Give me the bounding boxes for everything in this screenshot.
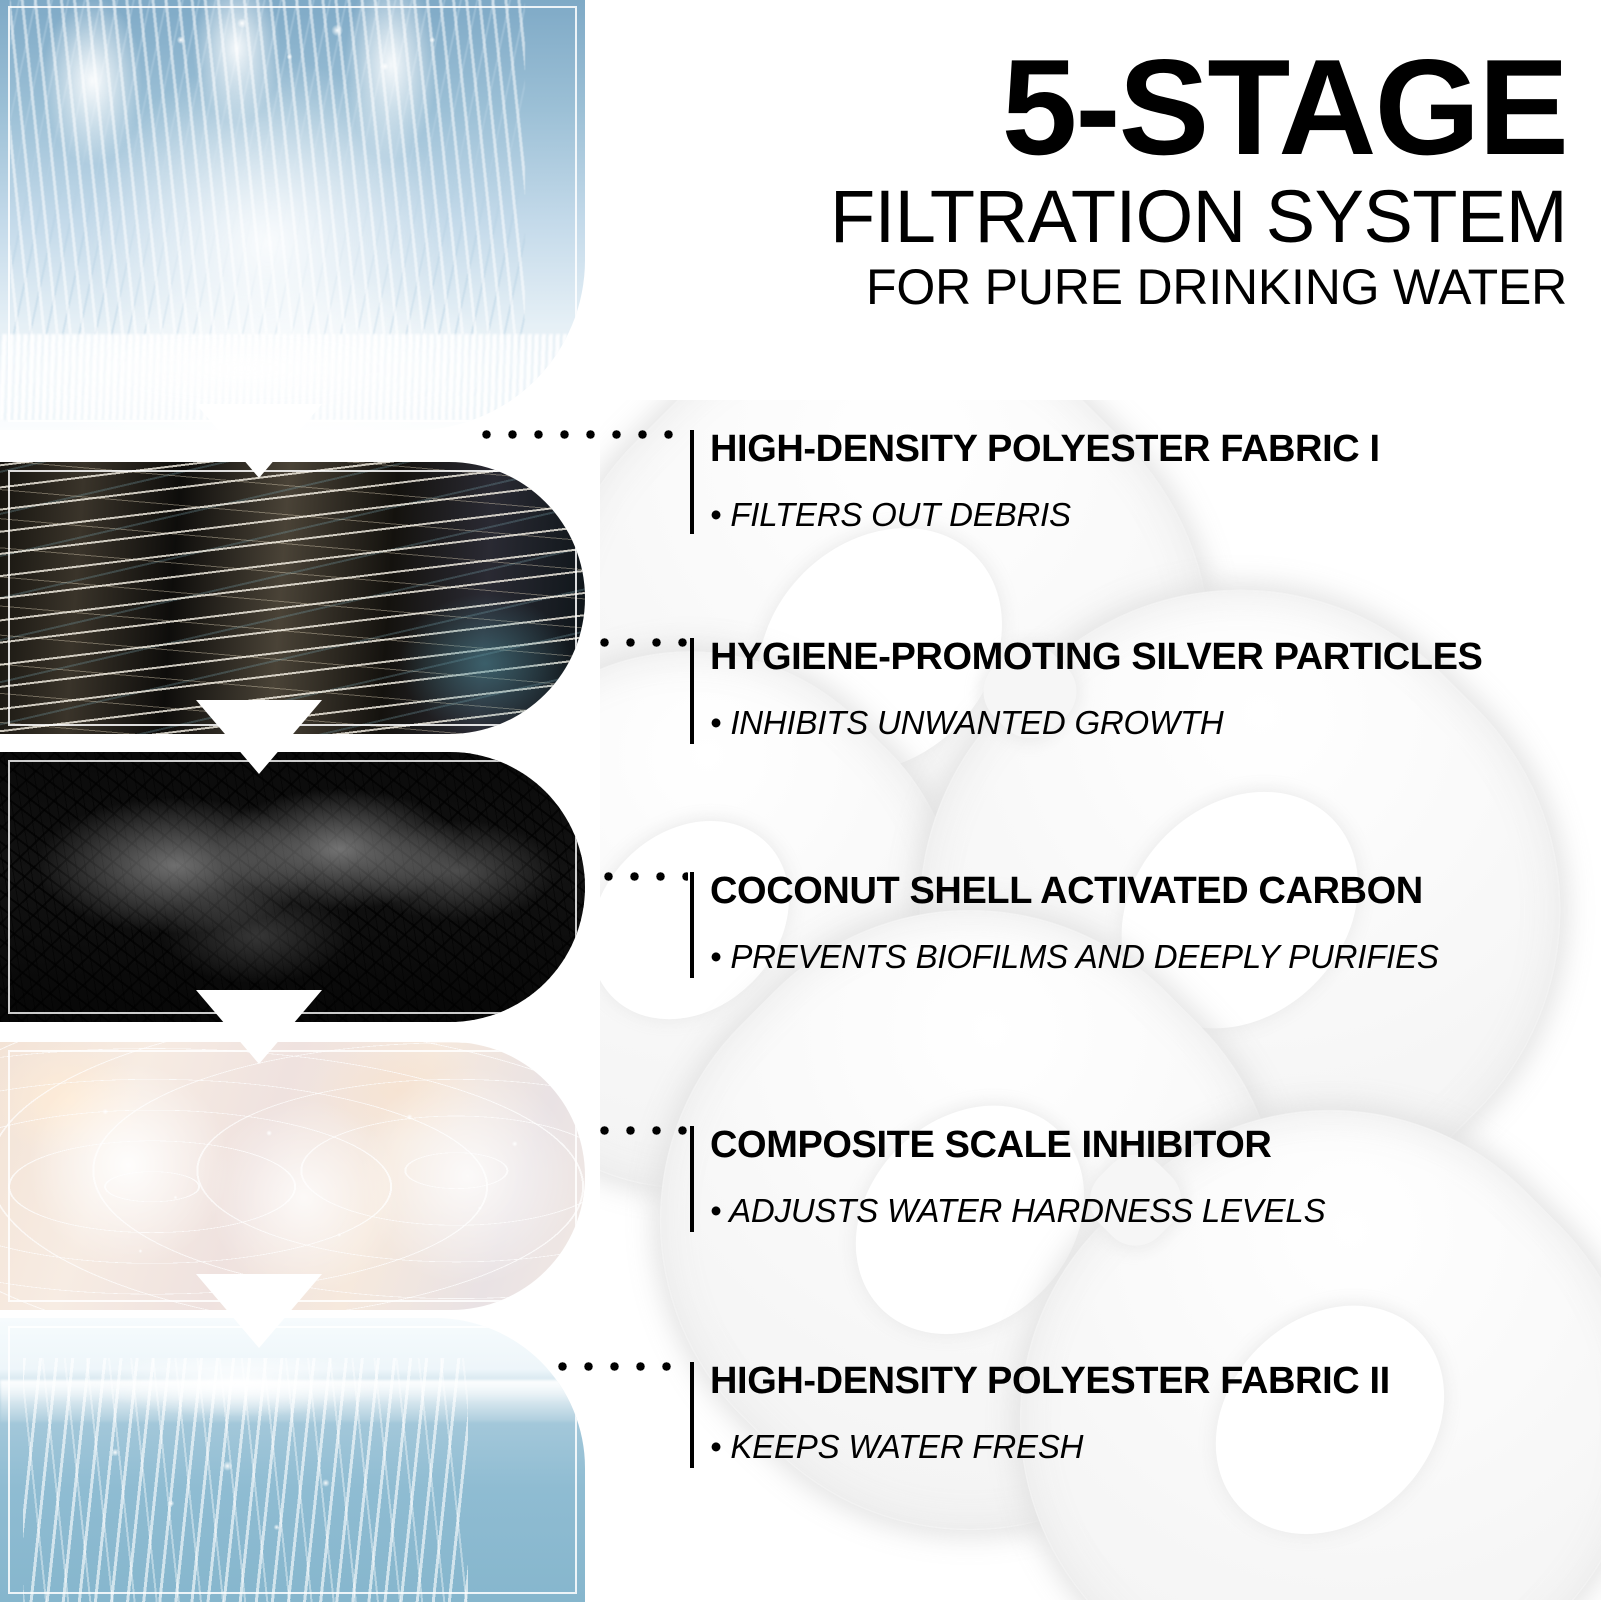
stage-bullet: • KEEPS WATER FRESH <box>710 1430 1390 1463</box>
dotted-leader <box>558 1362 688 1371</box>
stage-bullet: • FILTERS OUT DEBRIS <box>710 498 1380 531</box>
dotted-leader <box>482 430 688 439</box>
leader-vertical-bar <box>690 872 694 978</box>
stage-bullet: • ADJUSTS WATER HARDNESS LEVELS <box>710 1194 1325 1227</box>
stage-image-water-splash <box>0 0 585 430</box>
stage-text-4: COMPOSITE SCALE INHIBITOR • ADJUSTS WATE… <box>710 1126 1325 1227</box>
leader-vertical-bar <box>690 430 694 534</box>
leader-line <box>600 634 700 650</box>
scale-inhibitor-image <box>0 1042 585 1310</box>
leader-line <box>482 426 698 442</box>
stage-bullet: • INHIBITS UNWANTED GROWTH <box>710 706 1483 739</box>
sparkle-dots <box>0 1042 585 1310</box>
stage-text-2: HYGIENE-PROMOTING SILVER PARTICLES • INH… <box>710 638 1483 739</box>
dotted-leader <box>604 872 688 881</box>
activated-carbon-image <box>0 752 585 1022</box>
stage-image-scale-inhibitor <box>0 1042 585 1310</box>
water-droplets <box>140 4 479 124</box>
dotted-leader <box>600 638 688 647</box>
leader-vertical-bar <box>690 1362 694 1468</box>
stage-image-stack <box>0 0 600 1600</box>
page-subtitle: FILTRATION SYSTEM <box>830 178 1567 256</box>
leader-line <box>604 868 700 884</box>
stage-text-5: HIGH-DENSITY POLYESTER FABRIC II • KEEPS… <box>710 1362 1390 1463</box>
page-tagline: FOR PURE DRINKING WATER <box>830 260 1567 315</box>
stage-text-1: HIGH-DENSITY POLYESTER FABRIC I • FILTER… <box>710 430 1380 531</box>
silver-fibre-image <box>0 462 585 734</box>
page-title: 5-STAGE <box>830 44 1567 172</box>
stage-text-3: COCONUT SHELL ACTIVATED CARBON • PREVENT… <box>710 872 1439 973</box>
leader-line <box>558 1358 700 1374</box>
teal-highlight <box>398 593 574 734</box>
filter-pad-ghost <box>906 996 1601 1600</box>
pure-water-image <box>0 1318 585 1602</box>
stage-title: HIGH-DENSITY POLYESTER FABRIC II <box>710 1362 1390 1400</box>
leader-vertical-bar <box>690 638 694 744</box>
stage-image-pure-water <box>0 1318 585 1602</box>
stage-title: COMPOSITE SCALE INHIBITOR <box>710 1126 1325 1164</box>
charcoal-crack-texture <box>0 752 585 1022</box>
dotted-leader <box>600 1126 688 1135</box>
leader-line <box>600 1122 700 1138</box>
headline-block: 5-STAGE FILTRATION SYSTEM FOR PURE DRINK… <box>830 44 1567 315</box>
stage-image-activated-carbon <box>0 752 585 1022</box>
stage-image-silver-fibre <box>0 462 585 734</box>
water-bubbles <box>59 1415 410 1585</box>
stage-title: HIGH-DENSITY POLYESTER FABRIC I <box>710 430 1380 468</box>
stage-title: HYGIENE-PROMOTING SILVER PARTICLES <box>710 638 1483 676</box>
leader-vertical-bar <box>690 1126 694 1232</box>
stage-title: COCONUT SHELL ACTIVATED CARBON <box>710 872 1439 910</box>
water-splash-image <box>0 0 585 430</box>
stage-bullet: • PREVENTS BIOFILMS AND DEEPLY PURIFIES <box>710 940 1439 973</box>
